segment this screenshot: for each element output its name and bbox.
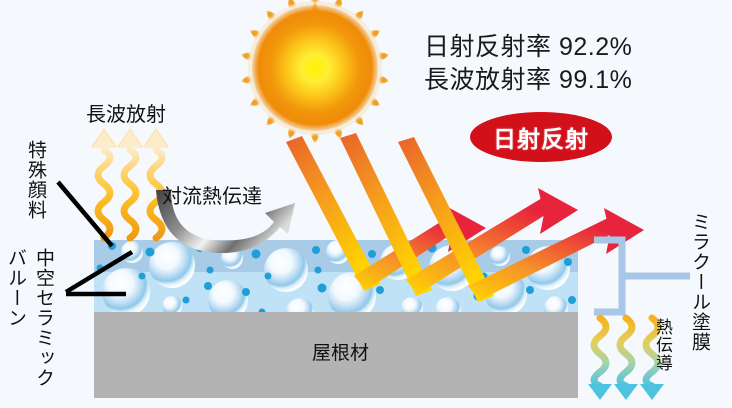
solar-reflectance-stat: 日射反射率 92.2%: [424, 27, 632, 63]
solar-reflection-badge-label: 日射反射: [493, 120, 589, 154]
longwave-radiation-arrows: [91, 128, 169, 238]
convective-heat-transfer-label: 対流熱伝達: [162, 180, 262, 209]
diagram-canvas: 日射反射率 92.2% 長波放射率 99.1% 日射反射 長波放射 対流熱伝達 …: [0, 0, 732, 408]
sun-icon: [239, 0, 391, 144]
hollow-ceramic-label: 中空セラミック: [34, 248, 53, 388]
leader-line-pigment: [58, 182, 112, 246]
solar-reflection-badge: 日射反射: [470, 112, 612, 162]
roof-material-label: 屋根材: [312, 338, 369, 365]
longwave-emissivity-stat: 長波放射率 99.1%: [424, 60, 632, 96]
balloon-label: バルーン: [6, 248, 25, 328]
longwave-radiation-label: 長波放射: [86, 98, 166, 127]
heat-conduction-label: 熱伝導: [654, 318, 671, 372]
miracool-film-label: ミラクール塗膜: [690, 212, 709, 352]
special-pigment-label: 特殊顔料: [26, 140, 45, 220]
